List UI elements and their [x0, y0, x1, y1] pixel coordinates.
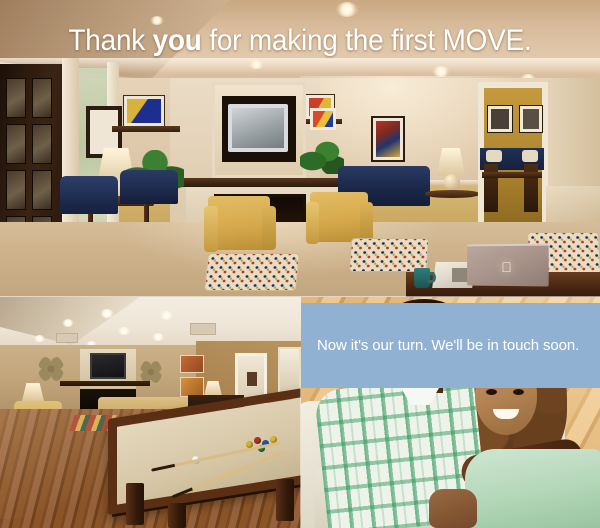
photo-divider-horizontal: [0, 296, 600, 297]
clasped-hands: [429, 489, 477, 528]
woman-top: [465, 449, 600, 528]
framed-artwork: [124, 96, 164, 126]
recessed-light: [249, 60, 264, 69]
pool-table-leg: [168, 503, 186, 528]
headline-emphasis: you: [153, 24, 202, 57]
framed-artwork: [310, 108, 336, 130]
photo-divider-vertical: [300, 388, 301, 528]
door-glass-pane: [32, 78, 52, 118]
recessed-light: [152, 333, 164, 341]
ceiling-vent: [190, 323, 216, 335]
framed-artwork: [520, 106, 542, 132]
navy-armchair: [60, 176, 118, 214]
armchair-arm: [306, 202, 319, 244]
ceiling-vent: [56, 333, 78, 343]
mantel-shelf: [60, 381, 150, 386]
recessed-light: [160, 311, 173, 320]
woman-eye: [513, 389, 524, 395]
hero-photo:  Thank you for making the first MOVE.: [0, 0, 600, 297]
patterned-ottoman: [349, 238, 429, 272]
pool-table-leg: [276, 479, 294, 521]
patterned-ottoman: [204, 253, 300, 291]
floating-shelf: [112, 126, 180, 132]
armchair-arm: [262, 206, 276, 250]
door-glass-pane: [32, 170, 52, 210]
woman-eye: [486, 389, 497, 395]
wall-medallion-decor: [38, 355, 64, 383]
email-banner-page:  Thank you for making the first MOVE.: [0, 0, 600, 528]
recessed-light: [100, 309, 114, 318]
door-glass-pane: [6, 78, 26, 118]
message-text: Now it's our turn. We'll be in touch soo…: [301, 336, 579, 356]
billiard-ball: [254, 437, 261, 444]
throw-pillow: [486, 150, 502, 162]
navy-armchair: [120, 170, 178, 204]
framed-artwork: [488, 106, 512, 132]
pool-table-leg: [126, 483, 144, 525]
door-glass-pane: [6, 124, 26, 164]
headline-part-2: for making the first MOVE.: [202, 24, 532, 57]
mantel-shelf: [166, 178, 364, 187]
game-room-photo: [0, 297, 301, 528]
headline-part-1: Thank: [68, 24, 152, 57]
recessed-light: [34, 335, 45, 342]
door-glass-pane: [6, 170, 26, 210]
coffee-mug-handle: [428, 272, 436, 283]
page-title: Thank you for making the first MOVE.: [21, 24, 579, 58]
table-lamp-base: [444, 174, 460, 190]
television: [228, 104, 288, 152]
recessed-light: [336, 2, 358, 17]
recessed-light: [118, 327, 130, 335]
door-glass-pane: [32, 124, 52, 164]
flat-screen-tv: [90, 353, 126, 379]
dining-table: [482, 172, 542, 178]
framed-artwork: [180, 355, 204, 373]
end-table: [425, 190, 479, 198]
framed-artwork: [180, 377, 204, 397]
throw-pillow: [522, 150, 538, 162]
framed-artwork: [246, 371, 258, 387]
framed-artwork: [373, 118, 403, 160]
message-panel: Now it's our turn. We'll be in touch soo…: [301, 303, 600, 388]
armchair-arm: [204, 206, 218, 252]
armchair-arm: [360, 202, 373, 242]
recessed-light: [62, 319, 74, 327]
apple-logo-icon: : [500, 260, 513, 274]
